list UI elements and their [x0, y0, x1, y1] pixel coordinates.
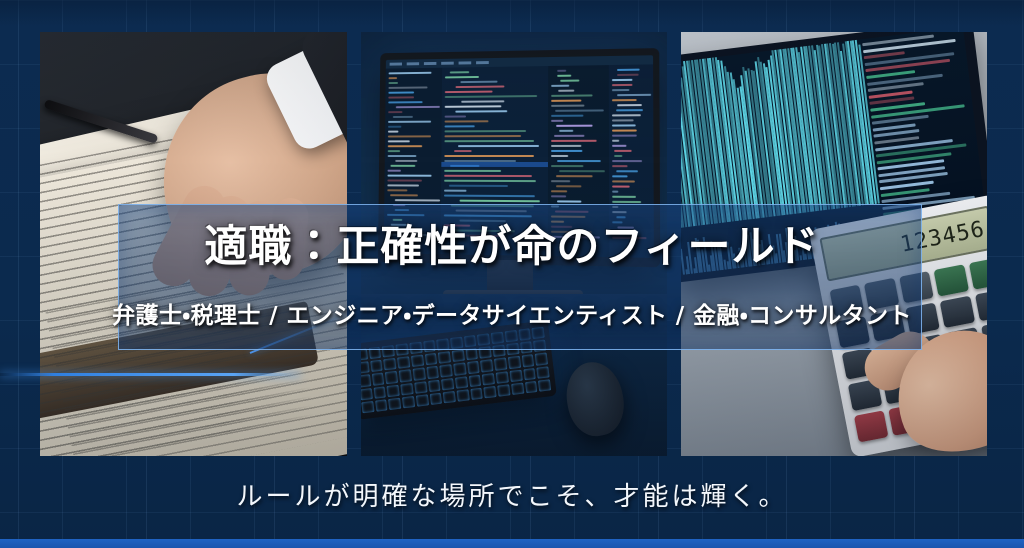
keyboard-key	[497, 384, 510, 397]
keyboard-key	[397, 356, 410, 369]
keyboard-key	[429, 392, 442, 405]
keyboard-key	[482, 373, 495, 386]
keyboard-key	[375, 399, 388, 412]
keyboard-key	[361, 388, 373, 401]
hero-banner: 書類に手を置くスーツ姿の人物と開いた法律書とペン	[0, 0, 1024, 548]
keyboard-key	[440, 365, 453, 378]
keyboard-key	[416, 394, 429, 407]
keyboard-key	[509, 369, 522, 382]
keyboard-key	[384, 358, 397, 371]
keyboard-key	[370, 360, 383, 373]
keyboard-key	[438, 351, 451, 364]
keyboard-key	[411, 355, 424, 368]
keyboard-key	[373, 386, 386, 399]
page-title: 適職：正確性が命のフィールド	[0, 222, 1024, 273]
keyboard-key	[521, 355, 534, 368]
keyboard-key	[538, 379, 551, 392]
keyboard-key	[400, 383, 413, 396]
keyboard-key	[455, 376, 468, 389]
keyboard-key	[452, 350, 465, 363]
page-subtitle: 弁護士・税理士 / エンジニア・データサイエンティスト / 金融・コンサルタント	[0, 296, 1024, 330]
keyboard-key	[361, 348, 368, 361]
keyboard-key	[424, 353, 437, 366]
keyboard-key	[511, 382, 524, 395]
keyboard-key	[361, 361, 369, 374]
keyboard-key	[457, 389, 470, 402]
keyboard-key	[361, 401, 374, 414]
keyboard-key	[481, 360, 494, 373]
keyboard-key	[484, 386, 497, 399]
keyboard-key	[508, 356, 521, 369]
keyboard-key	[535, 353, 548, 366]
keyboard-key	[467, 361, 480, 374]
bottom-accent-bar	[0, 539, 1024, 548]
page-caption: ルールが明確な場所でこそ、才能は輝く。	[0, 476, 1024, 513]
top-vignette	[0, 0, 1024, 26]
keyboard-key	[523, 368, 536, 381]
accent-line	[0, 373, 300, 376]
keyboard-key	[537, 366, 550, 379]
keyboard-key	[494, 358, 507, 371]
keyboard-key	[428, 379, 441, 392]
keyboard-key	[372, 373, 385, 386]
keyboard-key	[361, 375, 371, 388]
keyboard-key	[453, 363, 466, 376]
keyboard-key	[496, 371, 509, 384]
calculator-key	[854, 410, 889, 442]
keyboard-key	[470, 387, 483, 400]
keyboard-key	[402, 396, 415, 409]
keyboard-key	[385, 371, 398, 384]
keyboard-key	[412, 368, 425, 381]
keyboard-key	[388, 397, 401, 410]
keyboard-key	[443, 391, 456, 404]
keyboard-key	[387, 384, 400, 397]
keyboard-key	[525, 381, 538, 394]
keyboard-key	[399, 370, 412, 383]
keyboard-key	[441, 378, 454, 391]
keyboard-key	[469, 374, 482, 387]
keyboard-key	[414, 381, 427, 394]
keyboard-key	[426, 366, 439, 379]
